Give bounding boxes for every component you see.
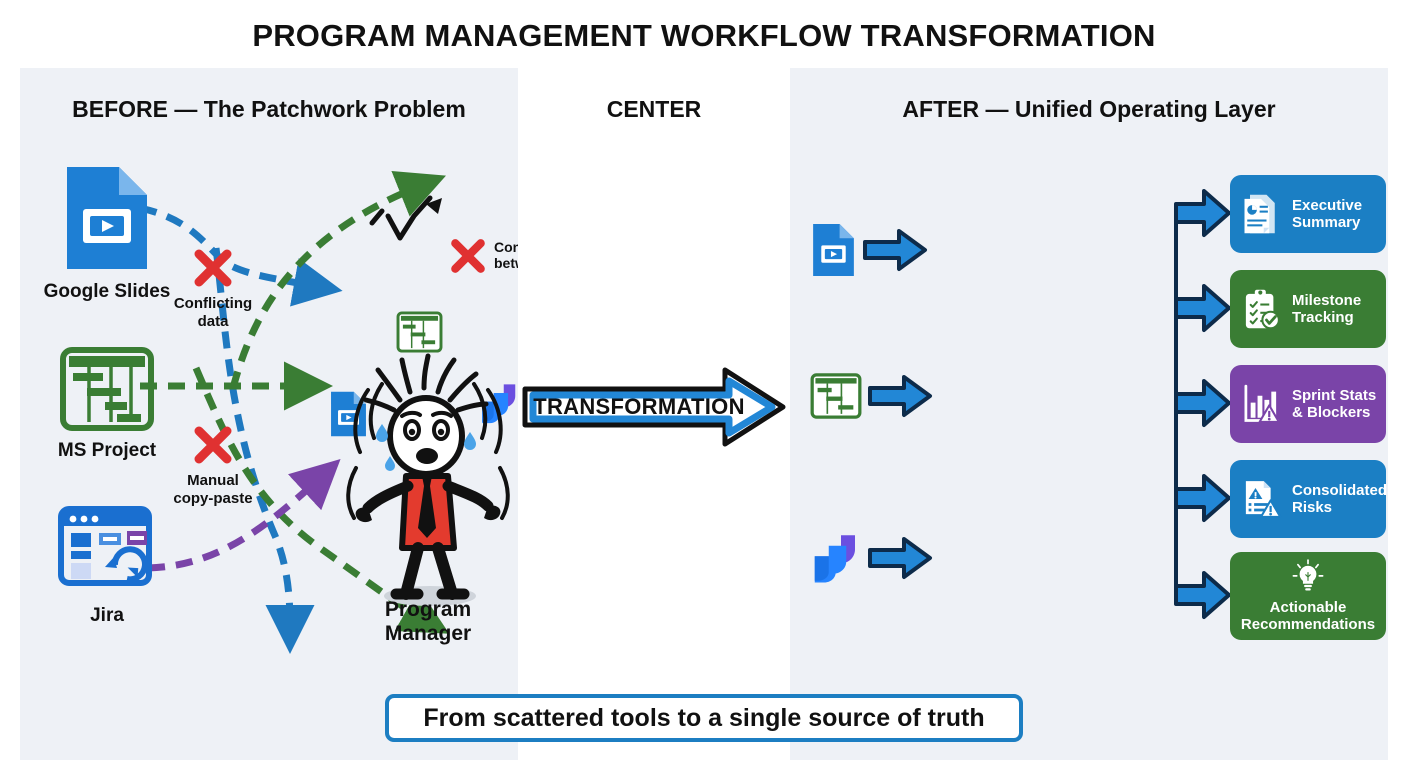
output-label-line1: Consolidated (1292, 482, 1387, 499)
output-card-executive-summary[interactable]: Executive Summary (1230, 175, 1386, 253)
jira-board-icon (57, 505, 157, 597)
input-row-ms-project (810, 372, 934, 420)
infographic-canvas: PROGRAM MANAGEMENT WORKFLOW TRANSFORMATI… (0, 0, 1408, 768)
output-card-label: Sprint Stats & Blockers (1292, 387, 1376, 421)
output-label-line1: Actionable (1241, 599, 1375, 616)
ms-project-gantt-icon (59, 346, 155, 432)
output-card-consolidated-risks[interactable]: Consolidated Risks (1230, 460, 1386, 538)
input-row-google-slides (810, 222, 929, 278)
source-tool-jira[interactable]: Jira (42, 505, 172, 627)
report-doc-icon (1239, 192, 1283, 236)
red-x-icon (448, 236, 488, 276)
problem-conflicting-data: Conflicting data (148, 246, 278, 331)
red-x-icon (191, 246, 235, 290)
blue-arrow-icon (866, 374, 934, 418)
output-card-label: Actionable Recommendations (1241, 599, 1375, 633)
output-card-label: Executive Summary (1292, 197, 1362, 231)
problem-label-line2: data (148, 314, 278, 331)
problem-manual-copy-paste: Manual copy-paste (148, 423, 278, 508)
input-row-jira (806, 530, 934, 586)
panel-before-heading: BEFORE — The Patchwork Problem (20, 96, 518, 123)
ms-project-gantt-icon (396, 311, 443, 353)
google-slides-icon (810, 222, 857, 278)
lightbulb-icon (1290, 559, 1326, 595)
output-card-sprint-stats-blockers[interactable]: Sprint Stats & Blockers (1230, 365, 1386, 443)
panel-center-heading: CENTER (518, 96, 790, 123)
source-tool-label: Jira (42, 605, 172, 627)
jira-logo-icon (806, 530, 862, 586)
output-label-line2: Tracking (1292, 309, 1361, 326)
bar-chart-warning-icon (1239, 382, 1283, 426)
panel-before: BEFORE — The Patchwork Problem (20, 68, 518, 760)
problem-label-line2: copy-paste (148, 491, 278, 508)
footer-text: From scattered tools to a single source … (423, 704, 984, 733)
output-label-line1: Executive (1292, 197, 1362, 214)
clipboard-check-icon (1239, 287, 1283, 331)
output-label-line2: & Blockers (1292, 404, 1376, 421)
blue-arrow-icon (866, 536, 934, 580)
output-label-line2: Summary (1292, 214, 1362, 231)
output-card-label: Milestone Tracking (1292, 292, 1361, 326)
ms-project-gantt-icon (810, 372, 862, 420)
red-x-icon (191, 423, 235, 467)
google-slides-icon (61, 163, 153, 273)
output-label-line2: Recommendations (1241, 616, 1375, 633)
panel-after-heading: AFTER — Unified Operating Layer (790, 96, 1388, 123)
transformation-label: TRANSFORMATION (520, 365, 758, 449)
page-title: PROGRAM MANAGEMENT WORKFLOW TRANSFORMATI… (0, 18, 1408, 54)
blue-arrow-icon (861, 228, 929, 272)
output-card-milestone-tracking[interactable]: Milestone Tracking (1230, 270, 1386, 348)
output-label-line1: Sprint Stats (1292, 387, 1376, 404)
persona-label: Program Manager (338, 598, 518, 645)
output-card-label: Consolidated Risks (1292, 482, 1387, 516)
problem-label-line1: Manual (148, 473, 278, 490)
footer-banner: From scattered tools to a single source … (385, 694, 1023, 742)
persona-label-line1: Program (338, 598, 518, 622)
output-label-line1: Milestone (1292, 292, 1361, 309)
persona-label-line2: Manager (338, 622, 518, 646)
stressed-person-icon (338, 348, 518, 613)
output-card-actionable-recommendations[interactable]: Actionable Recommendations (1230, 552, 1386, 640)
problem-label-line1: Conflicting (148, 296, 278, 313)
risk-doc-warning-icon (1239, 477, 1283, 521)
output-label-line2: Risks (1292, 499, 1387, 516)
